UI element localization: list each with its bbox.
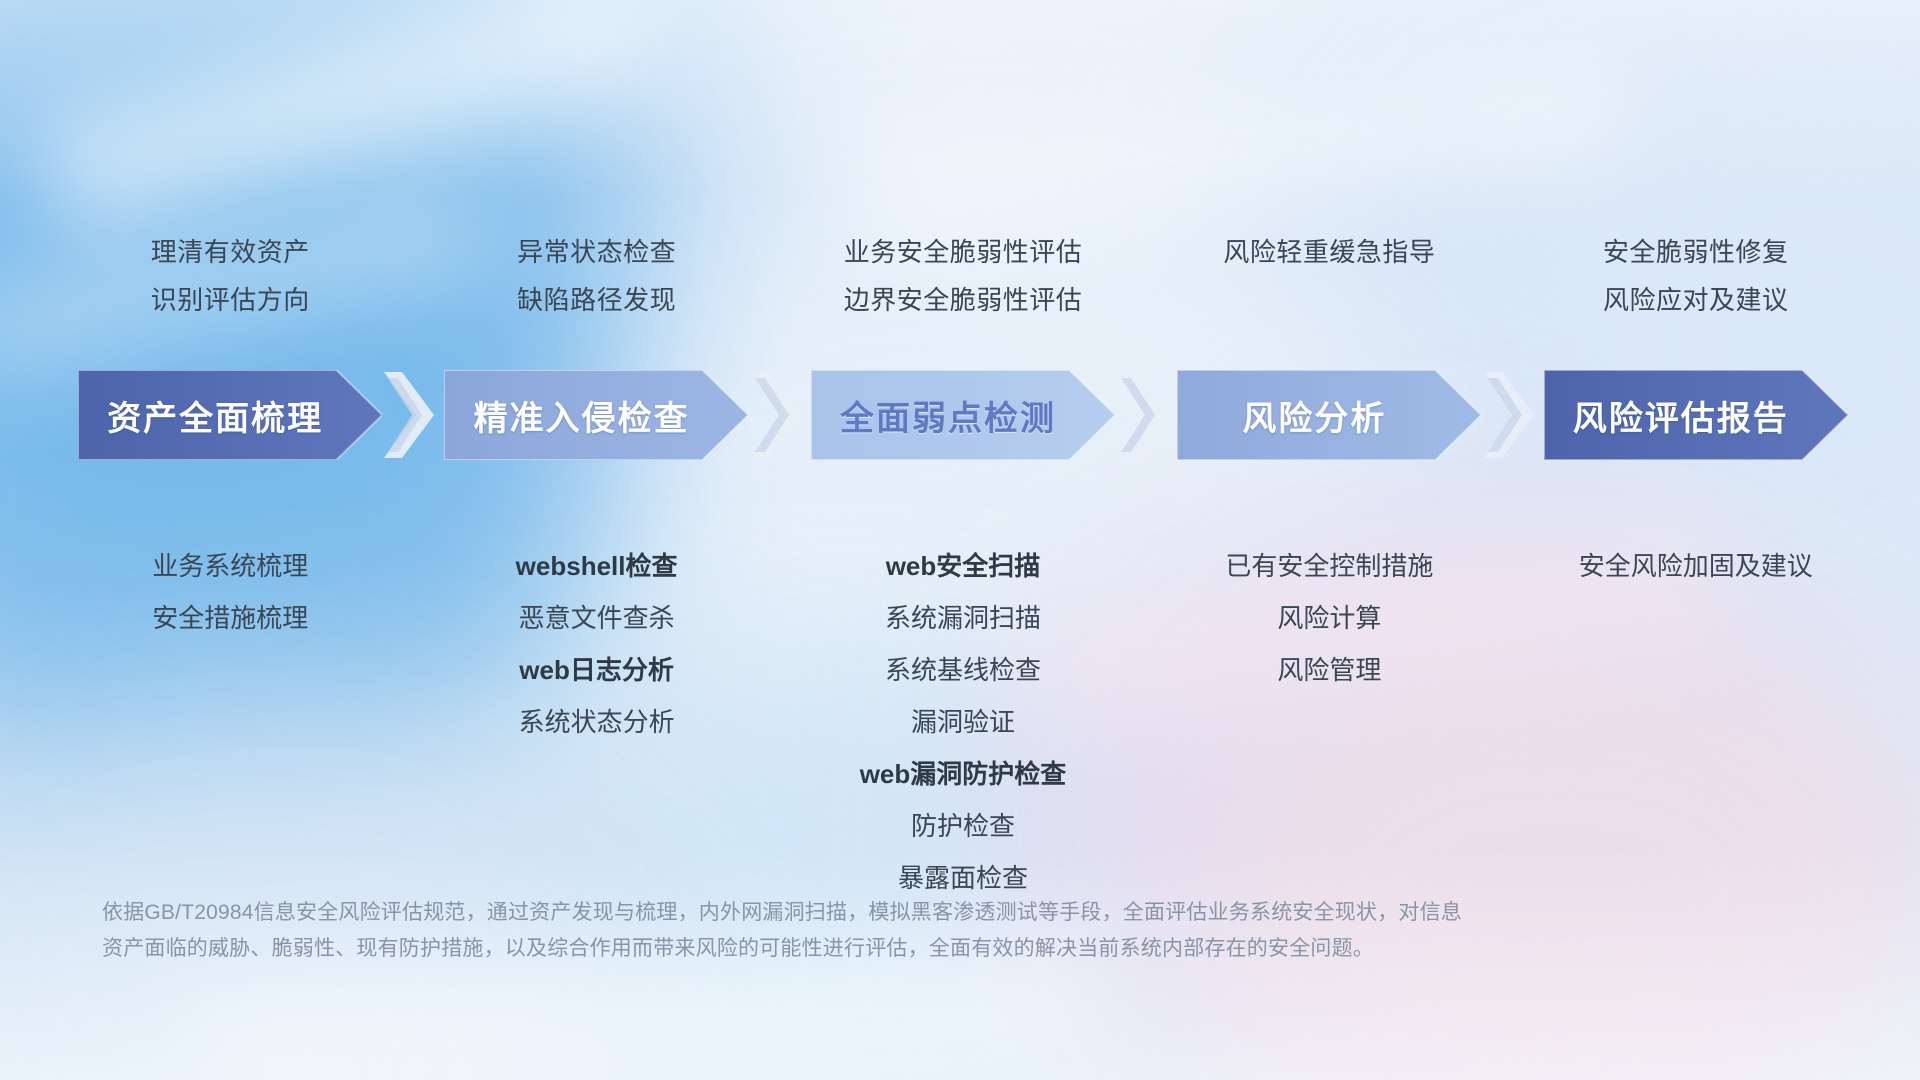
stage-arrow-risk-report[interactable]: 风险评估报告 [1544,370,1848,460]
stage-item[interactable]: web漏洞防护检查 [663,748,1263,800]
stage-arrow-band: 资产全面梳理精准入侵检查全面弱点检测风险分析风险评估报告 [78,370,1848,460]
stage-arrow-intrusion-check[interactable]: 精准入侵检查 [444,370,748,460]
stage-item[interactable]: 风险计算 [1029,592,1629,644]
top-note: 风险应对及建议 [1396,276,1920,324]
top-notes-row: 理清有效资产识别评估方向异常状态检查缺陷路径发现业务安全脆弱性评估边界安全脆弱性… [0,228,1920,338]
stage-separator-chevron [1482,370,1544,460]
stage-item[interactable]: 风险管理 [1029,644,1629,696]
stage-title-risk-analysis: 风险分析 [1242,391,1386,440]
top-notes-risk-report: 安全脆弱性修复风险应对及建议 [1396,228,1920,324]
stage-arrow-risk-analysis[interactable]: 风险分析 [1177,370,1481,460]
stage-arrow-weakness-detection[interactable]: 全面弱点检测 [811,370,1115,460]
top-note: 安全脆弱性修复 [1396,228,1920,276]
stage-separator-chevron [749,370,811,460]
stage-items-risk-report: 安全风险加固及建议 [1396,540,1920,592]
footer-line-1: 依据GB/T20984信息安全风险评估规范，通过资产发现与梳理，内外网漏洞扫描，… [102,895,1662,931]
stage-title-risk-report: 风险评估报告 [1573,391,1789,440]
footer-description: 依据GB/T20984信息安全风险评估规范，通过资产发现与梳理，内外网漏洞扫描，… [102,895,1662,967]
stage-arrow-asset-inventory[interactable]: 资产全面梳理 [78,370,382,460]
stage-item[interactable]: 漏洞验证 [663,696,1263,748]
footer-line-2: 资产面临的威胁、脆弱性、现有防护措施，以及综合作用而带来风险的可能性进行评估，全… [102,931,1662,967]
stage-separator-chevron [1115,370,1177,460]
top-note: 边界安全脆弱性评估 [663,276,1263,324]
stage-title-intrusion-check: 精准入侵检查 [474,391,690,440]
stage-separator-chevron [382,370,444,460]
stage-title-asset-inventory: 资产全面梳理 [107,391,323,440]
stage-item[interactable]: 防护检查 [663,800,1263,852]
stage-title-weakness-detection: 全面弱点检测 [840,391,1056,440]
process-diagram: 理清有效资产识别评估方向异常状态检查缺陷路径发现业务安全脆弱性评估边界安全脆弱性… [0,0,1920,1080]
stage-item[interactable]: 安全风险加固及建议 [1396,540,1920,592]
